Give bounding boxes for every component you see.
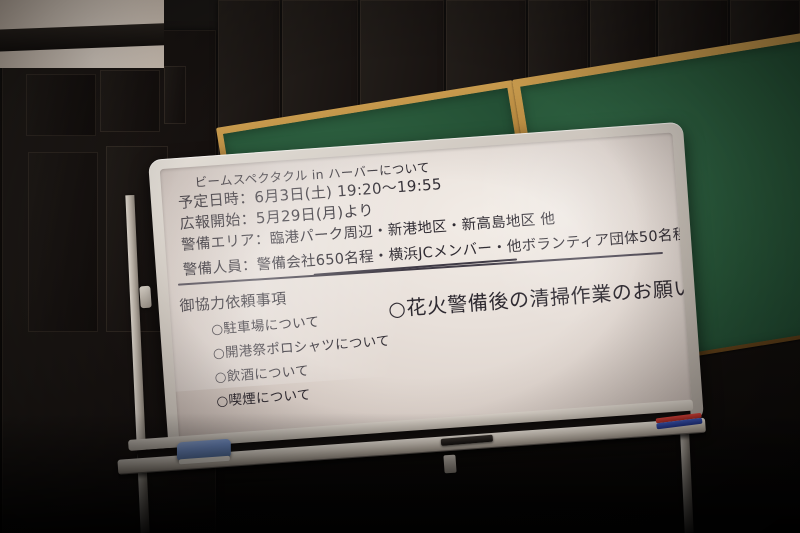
request-item-parking: ○駐車場について: [210, 310, 319, 338]
floor-shadow: [0, 413, 800, 533]
cleanup-request-note: ○花火警備後の清掃作業のお願い: [387, 271, 692, 322]
stand-pivot-left: [139, 286, 152, 309]
door-panel-lower-left: [28, 152, 98, 332]
arched-doorway-top: [0, 0, 164, 68]
whiteboard-surface[interactable]: ビームスペクタクル in ハーバーについて 予定日時：6月3日(土) 19:20…: [160, 132, 693, 447]
door-panel-upper-left: [26, 74, 96, 136]
door-panel-upper-mid: [100, 70, 160, 132]
request-item-drinking: ○飲酒について: [214, 359, 310, 386]
request-item-smoking: ○喫煙について: [216, 383, 312, 410]
door-panel-upper-right: [164, 66, 186, 124]
photo-scene: ビームスペクタクル in ハーバーについて 予定日時：6月3日(土) 19:20…: [0, 0, 800, 533]
requests-heading: 御協力依頼事項: [179, 287, 287, 316]
